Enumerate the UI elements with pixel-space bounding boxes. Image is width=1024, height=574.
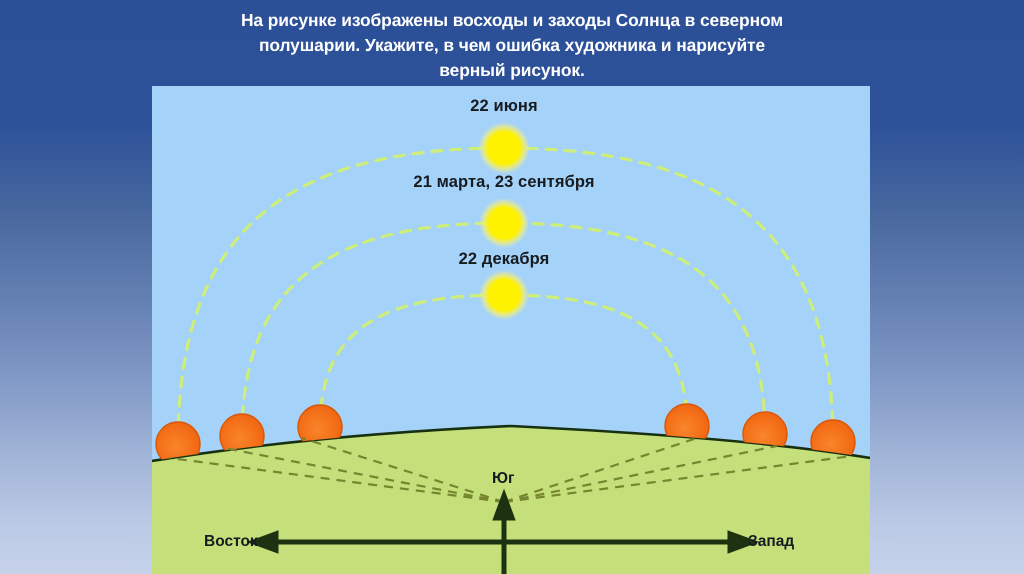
title-line-2: полушарии. Укажите, в чем ошибка художни… <box>150 33 874 58</box>
title-line-1: На рисунке изображены восходы и заходы С… <box>150 8 874 33</box>
slide: На рисунке изображены восходы и заходы С… <box>0 0 1024 574</box>
direction-label-east: Восток <box>204 533 258 551</box>
apex-sun-22-june <box>478 122 530 174</box>
diagram-canvas <box>152 86 870 574</box>
direction-label-west: Запад <box>748 533 794 551</box>
apex-sun-22-december <box>479 270 529 320</box>
date-label-winter-solstice: 22 декабря <box>459 250 550 269</box>
apex-sun-equinox <box>479 198 529 248</box>
page-title: На рисунке изображены восходы и заходы С… <box>150 8 874 83</box>
sun-path-diagram: 22 июня 21 марта, 23 сентября 22 декабря… <box>152 86 870 574</box>
apex-suns <box>478 122 530 320</box>
date-label-summer-solstice: 22 июня <box>470 97 537 116</box>
direction-label-south: Юг <box>492 470 514 488</box>
title-line-3: верный рисунок. <box>150 58 874 83</box>
date-label-equinox: 21 марта, 23 сентября <box>413 173 594 192</box>
